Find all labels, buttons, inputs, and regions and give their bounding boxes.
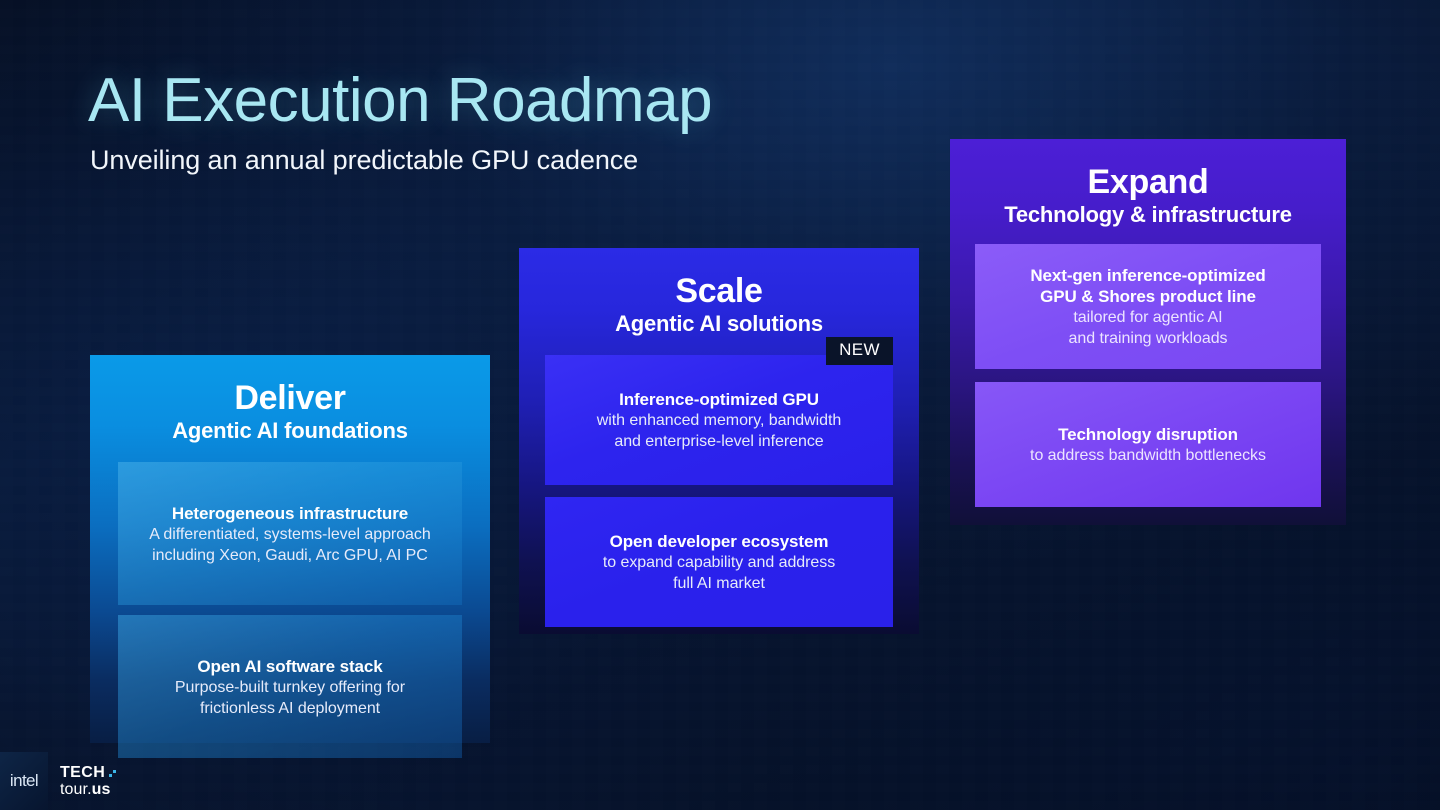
- panel-list-expand: Next-gen inference-optimized GPU & Shore…: [950, 244, 1346, 507]
- panel-desc-line-1: to address bandwidth bottlenecks: [991, 446, 1305, 466]
- pillar-header-expand: Expand Technology & infrastructure: [950, 139, 1346, 228]
- pillar-tagline-expand: Technology & infrastructure: [950, 202, 1346, 228]
- panel-desc-line-1: with enhanced memory, bandwidth: [561, 411, 877, 431]
- panel-title: Heterogeneous infrastructure: [134, 503, 446, 524]
- intel-logo: intel: [0, 752, 48, 810]
- page-title: AI Execution Roadmap: [88, 68, 712, 133]
- panel-desc-line-1: A differentiated, systems-level approach: [134, 525, 446, 545]
- panel-desc-line-2: full AI market: [561, 574, 877, 594]
- panel-desc-line-2: including Xeon, Gaudi, Arc GPU, AI PC: [134, 546, 446, 566]
- techtour-logo-row-1: TECH: [60, 765, 120, 781]
- pillar-header-scale: Scale Agentic AI solutions: [519, 248, 919, 337]
- techtour-logo-us-text: us: [92, 781, 111, 798]
- footer-logos: intel TECH tour.us: [0, 752, 120, 810]
- pillar-title-expand: Expand: [950, 163, 1346, 201]
- panel-list-scale: NEW Inference-optimized GPU with enhance…: [519, 355, 919, 627]
- slide-canvas: AI Execution Roadmap Unveiling an annual…: [0, 0, 1440, 810]
- panel-desc-line-1: to expand capability and address: [561, 553, 877, 573]
- panel-desc-line-1: Purpose-built turnkey offering for: [134, 678, 446, 698]
- pillar-card-expand[interactable]: Expand Technology & infrastructure Next-…: [950, 139, 1346, 525]
- techtour-logo: TECH tour.us: [60, 765, 120, 798]
- pillar-card-deliver[interactable]: Deliver Agentic AI foundations Heterogen…: [90, 355, 490, 743]
- pillar-card-scale[interactable]: Scale Agentic AI solutions NEW Inference…: [519, 248, 919, 634]
- page-subtitle: Unveiling an annual predictable GPU cade…: [90, 145, 712, 176]
- panel-next-gen-gpu-shores[interactable]: Next-gen inference-optimized GPU & Shore…: [975, 244, 1321, 369]
- panel-desc-line-2: frictionless AI deployment: [134, 699, 446, 719]
- pillar-tagline-scale: Agentic AI solutions: [519, 311, 919, 337]
- techtour-dots-icon: [108, 767, 120, 779]
- new-badge: NEW: [826, 337, 893, 365]
- panel-title: Inference-optimized GPU: [561, 389, 877, 410]
- panel-open-ai-software-stack[interactable]: Open AI software stack Purpose-built tur…: [118, 615, 462, 758]
- panel-desc-line-2: and enterprise-level inference: [561, 432, 877, 452]
- panel-desc-line-1: tailored for agentic AI: [991, 308, 1305, 328]
- panel-heterogeneous-infrastructure[interactable]: Heterogeneous infrastructure A different…: [118, 462, 462, 605]
- panel-technology-disruption[interactable]: Technology disruption to address bandwid…: [975, 382, 1321, 507]
- pillar-title-deliver: Deliver: [90, 379, 490, 417]
- techtour-logo-tech-text: TECH: [60, 765, 105, 781]
- techtour-logo-tour-text: tour.: [60, 781, 92, 798]
- panel-title-line-1: Next-gen inference-optimized: [991, 265, 1305, 286]
- pillar-title-scale: Scale: [519, 272, 919, 310]
- panel-desc-line-2: and training workloads: [991, 329, 1305, 349]
- pillar-tagline-deliver: Agentic AI foundations: [90, 418, 490, 444]
- panel-inference-optimized-gpu[interactable]: NEW Inference-optimized GPU with enhance…: [545, 355, 893, 485]
- panel-open-developer-ecosystem[interactable]: Open developer ecosystem to expand capab…: [545, 497, 893, 627]
- headline-block: AI Execution Roadmap Unveiling an annual…: [88, 68, 712, 176]
- pillar-header-deliver: Deliver Agentic AI foundations: [90, 355, 490, 444]
- panel-title: Open AI software stack: [134, 656, 446, 677]
- techtour-logo-row-2: tour.us: [60, 782, 120, 798]
- panel-title: Technology disruption: [991, 424, 1305, 445]
- panel-title: Open developer ecosystem: [561, 531, 877, 552]
- panel-list-deliver: Heterogeneous infrastructure A different…: [90, 462, 490, 758]
- panel-title-line-2: GPU & Shores product line: [991, 286, 1305, 307]
